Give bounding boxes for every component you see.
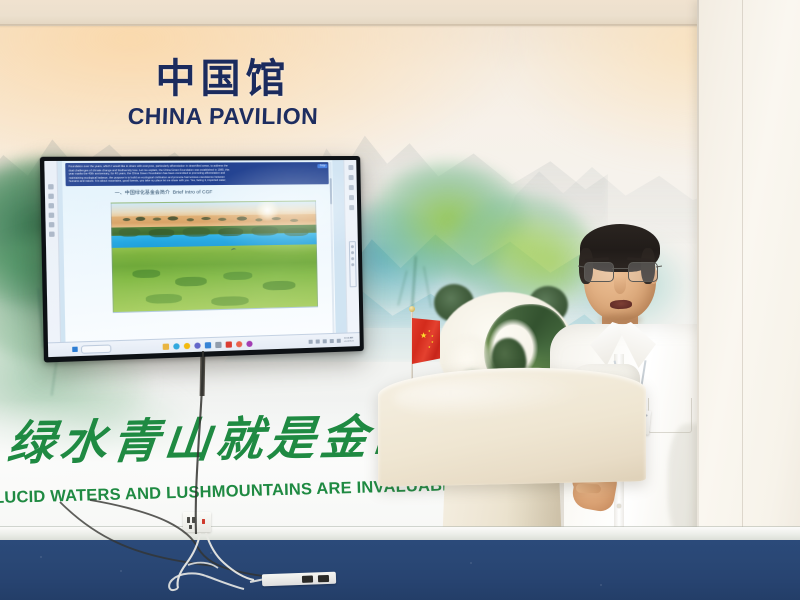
- more-icon[interactable]: [349, 205, 354, 210]
- document-page[interactable]: Foundation over the years, which I would…: [62, 160, 336, 342]
- pdf-icon[interactable]: [226, 341, 232, 347]
- slide-heading-en: Brief Intro of CGF: [173, 189, 213, 194]
- text-icon[interactable]: [49, 232, 55, 237]
- pavilion-sign: 中国馆 CHINA PAVILION: [108, 58, 338, 130]
- glasses-temple-right: [656, 266, 662, 268]
- taskbar-search-input[interactable]: [81, 344, 112, 353]
- search-icon[interactable]: [348, 185, 353, 190]
- eraser-icon[interactable]: [49, 213, 55, 218]
- clock-date: 2025/8/25: [344, 340, 354, 343]
- network-icon[interactable]: [323, 339, 327, 343]
- file-explorer-icon[interactable]: [163, 343, 169, 349]
- share-icon[interactable]: [348, 195, 353, 200]
- slogan-cn: 绿水青山就是金山银山: [5, 414, 431, 468]
- taskbar-system-tray[interactable]: 11:04 AM 2025/8/25: [309, 337, 354, 344]
- taskbar-pinned-apps[interactable]: [163, 340, 253, 349]
- podium-front-panel: [378, 365, 646, 487]
- recorder-icon[interactable]: [246, 340, 252, 346]
- shirt-pocket: [648, 398, 692, 433]
- edge-icon[interactable]: [173, 343, 179, 349]
- wall-slogan: 绿水青山就是金山银山 LUCID WATERS AND LUSHMOUNTAIN…: [8, 418, 428, 502]
- wps-icon[interactable]: [236, 341, 242, 347]
- comment-icon[interactable]: [348, 165, 353, 170]
- shape-icon[interactable]: [49, 222, 55, 227]
- flag-star-small: ★: [431, 341, 434, 344]
- slide-heading-cn: 一、中国绿化基金会简介: [115, 190, 170, 196]
- podium-highlight: [394, 373, 582, 419]
- zoom-in-icon[interactable]: [350, 245, 353, 248]
- right-wall-panel: [697, 0, 800, 600]
- mail-icon[interactable]: [205, 342, 211, 348]
- chevron-up-icon[interactable]: [309, 339, 313, 343]
- store-icon[interactable]: [215, 341, 221, 347]
- cloud-icon[interactable]: [316, 339, 320, 343]
- flag-star-small: ★: [428, 346, 431, 349]
- battery-icon[interactable]: [337, 338, 341, 342]
- pavilion-name-cn: 中国馆: [108, 58, 338, 100]
- highlighted-paragraph[interactable]: Foundation over the years, which I would…: [65, 162, 329, 186]
- document-page-area[interactable]: Foundation over the years, which I would…: [57, 160, 346, 342]
- outlet-switch-indicator[interactable]: [202, 519, 205, 524]
- glasses-bridge: [612, 268, 628, 269]
- speaker-nose: [614, 276, 626, 294]
- wall-skirting-board: [0, 527, 800, 540]
- taskbar-left-group[interactable]: [72, 344, 111, 354]
- slide-heading: 一、中国绿化基金会简介 Brief Intro of CGF: [115, 189, 213, 196]
- flag-star-small: ★: [431, 335, 434, 338]
- flag-star-large: ★: [420, 332, 427, 340]
- power-strip[interactable]: [262, 572, 336, 587]
- glasses-lens-left: [584, 262, 614, 282]
- slide-photo-oasis: [111, 200, 318, 313]
- photo-scene: 中国馆 CHINA PAVILION 绿水青山就是金山银山 LUCID WATE…: [0, 0, 800, 600]
- app-body: Foundation over the years, which I would…: [44, 160, 359, 342]
- tv-screen[interactable]: Foundation over the years, which I would…: [44, 160, 360, 357]
- settings-icon[interactable]: [348, 175, 353, 180]
- carpet-floor: [0, 540, 800, 600]
- wall-power-outlet[interactable]: [183, 512, 211, 532]
- pen-icon[interactable]: [48, 194, 54, 199]
- flag-star-small: ★: [428, 330, 431, 333]
- start-button-icon[interactable]: [72, 347, 78, 352]
- right-panel-inner-edge: [742, 0, 743, 560]
- fit-page-icon[interactable]: [351, 257, 354, 260]
- volume-icon[interactable]: [330, 338, 334, 342]
- zoom-out-icon[interactable]: [351, 251, 354, 254]
- highlight-line: humans and nature. It is about mountains…: [69, 179, 326, 184]
- ceiling-band: [0, 0, 800, 26]
- glasses-lens-right: [628, 262, 658, 282]
- flag-cloth: ★ ★ ★ ★ ★: [412, 318, 440, 364]
- teams-icon[interactable]: [194, 342, 200, 348]
- flag-finial: [409, 306, 415, 312]
- document-viewer-app[interactable]: Foundation over the years, which I would…: [44, 160, 360, 357]
- chrome-icon[interactable]: [184, 342, 190, 348]
- rotate-icon[interactable]: [351, 263, 354, 266]
- cursor-icon[interactable]: [48, 184, 54, 189]
- copy-selection-button[interactable]: Copy: [318, 164, 328, 168]
- photo-bird: [231, 248, 237, 253]
- taskbar-clock[interactable]: 11:04 AM 2025/8/25: [344, 337, 354, 343]
- wall-mounted-tv[interactable]: Foundation over the years, which I would…: [40, 156, 364, 363]
- highlighter-icon[interactable]: [48, 203, 54, 208]
- right-panel-seam: [697, 0, 699, 600]
- pavilion-name-en: CHINA PAVILION: [108, 103, 339, 130]
- zoom-tool-group[interactable]: [348, 241, 356, 287]
